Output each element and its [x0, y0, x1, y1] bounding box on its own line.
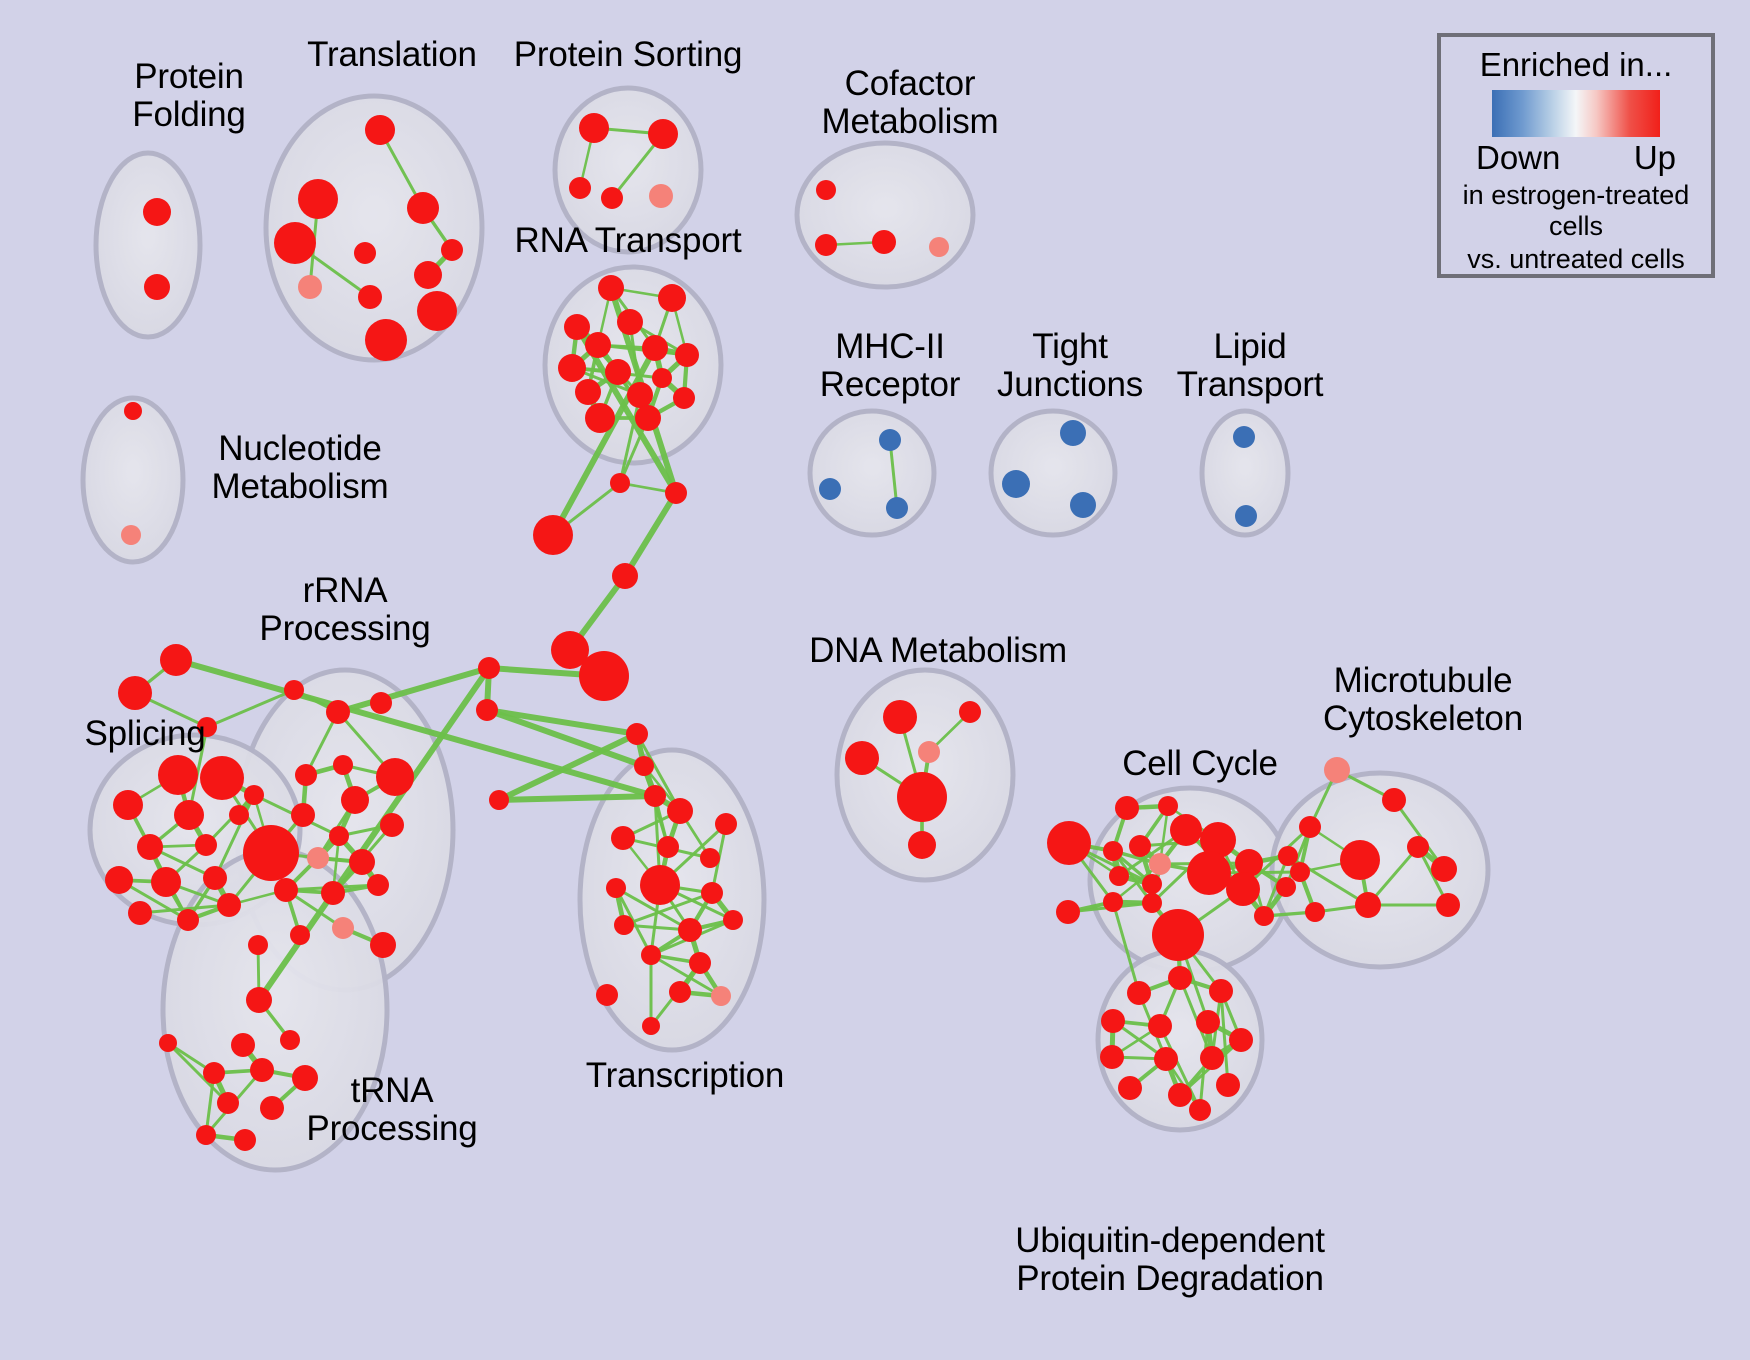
network-node[interactable] — [701, 882, 723, 904]
cluster-label-tight-junctions: Tight Junctions — [975, 328, 1165, 404]
network-node[interactable] — [307, 847, 329, 869]
network-node[interactable] — [1355, 892, 1381, 918]
edge — [625, 493, 676, 576]
cluster-label-protein-sorting: Protein Sorting — [508, 36, 748, 74]
network-node[interactable] — [605, 359, 631, 385]
legend-color-gradient — [1492, 90, 1660, 137]
network-node[interactable] — [606, 878, 626, 898]
network-node[interactable] — [558, 354, 586, 382]
network-node[interactable] — [1002, 470, 1030, 498]
network-node[interactable] — [1103, 841, 1123, 861]
cluster-label-dna-metabolism: DNA Metabolism — [808, 632, 1068, 670]
network-node[interactable] — [333, 755, 353, 775]
network-node[interactable] — [585, 403, 615, 433]
cluster-label-translation: Translation — [282, 36, 502, 74]
legend-box: Enriched in... Down Up in estrogen-treat… — [1437, 33, 1715, 278]
network-node[interactable] — [1109, 866, 1129, 886]
network-node[interactable] — [617, 309, 643, 335]
network-node[interactable] — [883, 700, 917, 734]
network-node[interactable] — [489, 790, 509, 810]
network-node[interactable] — [886, 497, 908, 519]
network-node[interactable] — [1209, 979, 1233, 1003]
network-node[interactable] — [124, 402, 142, 420]
network-node[interactable] — [174, 800, 204, 830]
legend-caption-line-1: in estrogen-treated cells — [1441, 180, 1711, 240]
network-node[interactable] — [295, 764, 317, 786]
network-node[interactable] — [1436, 893, 1460, 917]
network-node[interactable] — [203, 866, 227, 890]
network-node[interactable] — [1127, 981, 1151, 1005]
network-node[interactable] — [819, 478, 841, 500]
cluster-label-mhc-ii-receptor: MHC-II Receptor — [795, 328, 985, 404]
legend-endpoint-labels: Down Up — [1476, 139, 1676, 177]
network-node[interactable] — [1278, 846, 1298, 866]
network-node[interactable] — [1189, 1099, 1211, 1121]
network-node[interactable] — [1115, 796, 1139, 820]
network-node[interactable] — [417, 291, 457, 331]
network-node[interactable] — [217, 893, 241, 917]
network-node[interactable] — [250, 1058, 274, 1082]
network-node[interactable] — [879, 429, 901, 451]
cluster-label-transcription: Transcription — [570, 1057, 800, 1095]
cluster-label-rna-transport: RNA Transport — [508, 222, 748, 260]
network-node[interactable] — [321, 881, 345, 905]
cluster-label-splicing: Splicing — [50, 715, 240, 753]
legend-low-label: Down — [1476, 139, 1560, 177]
network-node[interactable] — [1152, 909, 1204, 961]
network-node[interactable] — [564, 314, 590, 340]
edge — [499, 796, 655, 800]
network-node[interactable] — [121, 525, 141, 545]
network-node[interactable] — [244, 785, 264, 805]
network-node[interactable] — [196, 1125, 216, 1145]
network-node[interactable] — [665, 482, 687, 504]
network-node[interactable] — [414, 261, 442, 289]
network-node[interactable] — [1290, 862, 1310, 882]
network-node[interactable] — [280, 1030, 300, 1050]
network-node[interactable] — [611, 826, 635, 850]
network-node[interactable] — [1233, 426, 1255, 448]
network-node[interactable] — [627, 382, 653, 408]
network-node[interactable] — [113, 790, 143, 820]
network-node[interactable] — [918, 741, 940, 763]
network-node[interactable] — [1340, 840, 1380, 880]
network-node[interactable] — [1148, 1014, 1172, 1038]
network-node[interactable] — [1100, 1045, 1124, 1069]
network-node[interactable] — [1299, 816, 1321, 838]
network-node[interactable] — [274, 878, 298, 902]
network-node[interactable] — [160, 644, 192, 676]
legend-title: Enriched in... — [1480, 46, 1673, 84]
network-node[interactable] — [298, 179, 338, 219]
network-node[interactable] — [816, 180, 836, 200]
figure-canvas: Protein FoldingTranslationProtein Sortin… — [0, 0, 1750, 1360]
network-node[interactable] — [365, 115, 395, 145]
network-node[interactable] — [1216, 1073, 1240, 1097]
network-node[interactable] — [284, 680, 304, 700]
cluster-label-microtubule-cytoskeleton: Microtubule Cytoskeleton — [1303, 662, 1543, 738]
network-node[interactable] — [612, 563, 638, 589]
network-node[interactable] — [1168, 966, 1192, 990]
network-node[interactable] — [407, 192, 439, 224]
network-node[interactable] — [815, 234, 837, 256]
network-node[interactable] — [658, 284, 686, 312]
network-node[interactable] — [644, 785, 666, 807]
network-node[interactable] — [1226, 872, 1260, 906]
network-node[interactable] — [1129, 835, 1151, 857]
network-node[interactable] — [635, 405, 661, 431]
cluster-label-cell-cycle: Cell Cycle — [1100, 745, 1300, 783]
network-node[interactable] — [246, 987, 272, 1013]
network-node[interactable] — [715, 813, 737, 835]
network-node[interactable] — [1200, 1046, 1224, 1070]
cluster-label-nucleotide-metabolism: Nucleotide Metabolism — [190, 430, 410, 506]
network-node[interactable] — [118, 676, 152, 710]
network-node[interactable] — [929, 237, 949, 257]
network-node[interactable] — [478, 657, 500, 679]
network-node[interactable] — [689, 952, 711, 974]
network-node[interactable] — [203, 1062, 225, 1084]
network-node[interactable] — [128, 901, 152, 925]
network-node[interactable] — [575, 379, 601, 405]
network-node[interactable] — [675, 343, 699, 367]
network-node[interactable] — [1158, 796, 1178, 816]
network-node[interactable] — [200, 756, 244, 800]
network-node[interactable] — [137, 834, 163, 860]
network-node[interactable] — [1229, 1028, 1253, 1052]
network-node[interactable] — [370, 692, 392, 714]
network-node[interactable] — [243, 825, 299, 881]
network-node[interactable] — [673, 387, 695, 409]
network-node[interactable] — [1118, 1076, 1142, 1100]
network-node[interactable] — [144, 274, 170, 300]
network-node[interactable] — [1142, 893, 1162, 913]
network-node[interactable] — [711, 986, 731, 1006]
network-node[interactable] — [533, 515, 573, 555]
network-node[interactable] — [669, 981, 691, 1003]
network-node[interactable] — [370, 932, 396, 958]
network-node[interactable] — [177, 909, 199, 931]
network-node[interactable] — [1305, 902, 1325, 922]
network-node[interactable] — [332, 917, 354, 939]
cluster-label-cofactor-metabolism: Cofactor Metabolism — [800, 65, 1020, 141]
legend-caption-line-2: vs. untreated cells — [1467, 244, 1685, 274]
network-node[interactable] — [1142, 874, 1162, 894]
network-node[interactable] — [1382, 788, 1406, 812]
cluster-halo — [810, 411, 934, 535]
network-node[interactable] — [908, 831, 936, 859]
network-node[interactable] — [217, 1092, 239, 1114]
network-node[interactable] — [649, 184, 673, 208]
cluster-label-rrna-processing: rRNA Processing — [250, 572, 440, 648]
network-node[interactable] — [376, 758, 414, 796]
network-node[interactable] — [610, 473, 630, 493]
cluster-label-trna-processing: tRNA Processing — [292, 1072, 492, 1148]
network-node[interactable] — [151, 867, 181, 897]
network-node[interactable] — [341, 786, 369, 814]
network-node[interactable] — [648, 119, 678, 149]
network-node[interactable] — [1047, 821, 1091, 865]
network-node[interactable] — [231, 1033, 255, 1057]
network-node[interactable] — [723, 910, 743, 930]
network-node[interactable] — [642, 1017, 660, 1035]
network-node[interactable] — [1060, 420, 1086, 446]
network-node[interactable] — [298, 275, 322, 299]
network-node[interactable] — [365, 319, 407, 361]
network-node[interactable] — [642, 335, 668, 361]
network-node[interactable] — [657, 836, 679, 858]
network-node[interactable] — [358, 285, 382, 309]
network-node[interactable] — [678, 918, 702, 942]
cluster-halo — [797, 143, 973, 287]
network-node[interactable] — [354, 242, 376, 264]
network-node[interactable] — [229, 805, 249, 825]
legend-high-label: Up — [1634, 139, 1676, 177]
network-node[interactable] — [601, 187, 623, 209]
network-node[interactable] — [1196, 1010, 1220, 1034]
network-node[interactable] — [476, 699, 498, 721]
network-node[interactable] — [1324, 757, 1350, 783]
network-node[interactable] — [872, 230, 896, 254]
network-node[interactable] — [634, 756, 654, 776]
network-node[interactable] — [326, 700, 350, 724]
network-node[interactable] — [626, 723, 648, 745]
network-node[interactable] — [234, 1129, 256, 1151]
network-node[interactable] — [1168, 1083, 1192, 1107]
network-node[interactable] — [579, 113, 609, 143]
network-node[interactable] — [1407, 836, 1429, 858]
network-node[interactable] — [667, 798, 693, 824]
network-node[interactable] — [652, 368, 672, 388]
cluster-label-ubiquitin-protein-degradation: Ubiquitin-dependent Protein Degradation — [1000, 1222, 1340, 1298]
network-node[interactable] — [274, 222, 316, 264]
network-node[interactable] — [845, 741, 879, 775]
network-node[interactable] — [585, 332, 611, 358]
network-node[interactable] — [1170, 814, 1202, 846]
network-node[interactable] — [248, 935, 268, 955]
network-node[interactable] — [1070, 492, 1096, 518]
network-node[interactable] — [195, 834, 217, 856]
network-node[interactable] — [1235, 505, 1257, 527]
network-node[interactable] — [579, 651, 629, 701]
network-node[interactable] — [1154, 1047, 1178, 1071]
network-node[interactable] — [1254, 906, 1274, 926]
network-node[interactable] — [158, 755, 198, 795]
edge — [487, 710, 637, 734]
network-node[interactable] — [291, 803, 315, 827]
network-node[interactable] — [290, 925, 310, 945]
network-node[interactable] — [1056, 900, 1080, 924]
network-node[interactable] — [1103, 892, 1123, 912]
network-node[interactable] — [349, 849, 375, 875]
network-node[interactable] — [105, 866, 133, 894]
cluster-label-lipid-transport: Lipid Transport — [1155, 328, 1345, 404]
network-node[interactable] — [1149, 853, 1171, 875]
network-node[interactable] — [897, 772, 947, 822]
network-node[interactable] — [640, 865, 680, 905]
cluster-halo — [96, 153, 200, 337]
network-node[interactable] — [143, 198, 171, 226]
network-node[interactable] — [700, 848, 720, 868]
network-node[interactable] — [596, 984, 618, 1006]
network-node[interactable] — [380, 813, 404, 837]
network-node[interactable] — [260, 1096, 284, 1120]
network-node[interactable] — [959, 701, 981, 723]
network-node[interactable] — [1276, 877, 1296, 897]
network-node[interactable] — [1101, 1009, 1125, 1033]
network-node[interactable] — [329, 826, 349, 846]
network-node[interactable] — [569, 177, 591, 199]
cluster-label-protein-folding: Protein Folding — [84, 58, 294, 134]
network-node[interactable] — [159, 1034, 177, 1052]
network-node[interactable] — [367, 874, 389, 896]
network-node[interactable] — [614, 915, 634, 935]
network-node[interactable] — [598, 275, 624, 301]
network-node[interactable] — [441, 239, 463, 261]
network-node[interactable] — [1187, 851, 1231, 895]
network-node[interactable] — [1431, 856, 1457, 882]
network-node[interactable] — [641, 945, 661, 965]
